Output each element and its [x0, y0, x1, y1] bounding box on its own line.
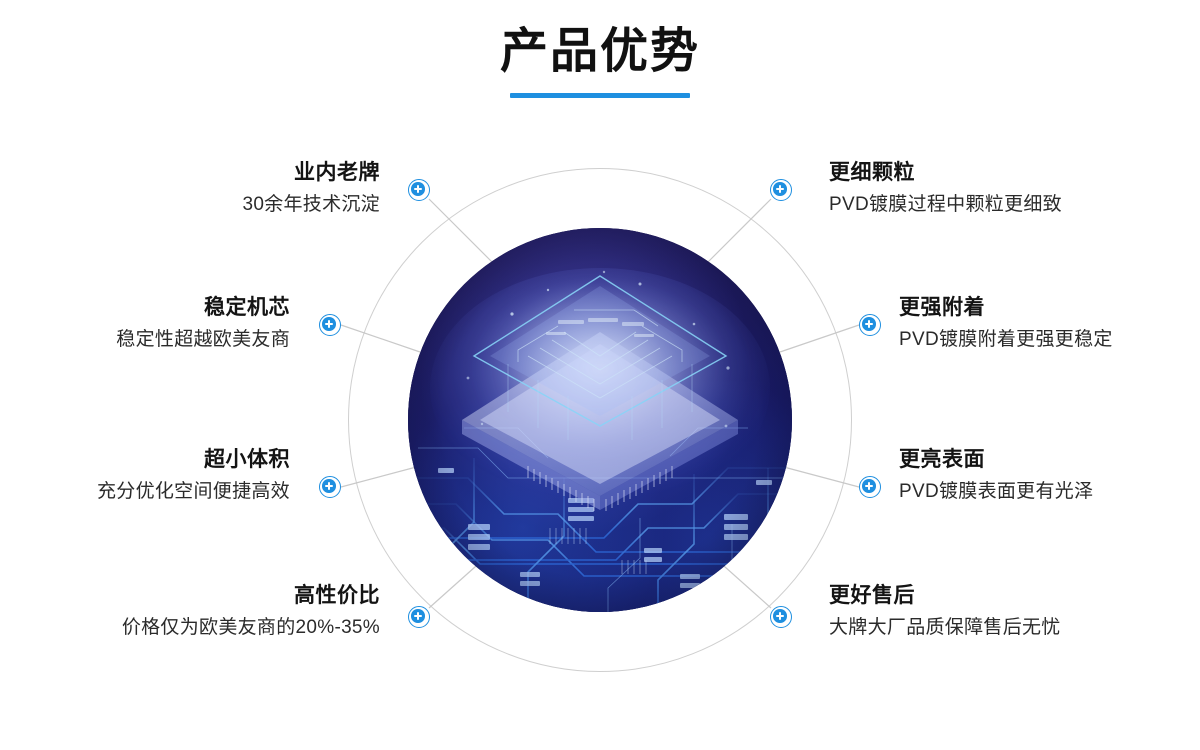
chip-image-vignette	[408, 228, 792, 612]
plus-circle-icon-2[interactable]	[319, 314, 341, 336]
plus-vertical-bar	[328, 320, 330, 328]
plus-circle-icon-4[interactable]	[408, 606, 430, 628]
feature-item-gao-xing-jia-bi[interactable]: 高性价比 价格仅为欧美友商的20%-35%	[122, 583, 380, 641]
feature-description: 充分优化空间便捷高效	[97, 480, 290, 505]
feature-description: PVD镀膜过程中颗粒更细致	[829, 193, 1062, 218]
feature-title: 更强附着	[899, 295, 1113, 321]
plus-vertical-bar	[417, 612, 419, 620]
plus-vertical-bar	[779, 612, 781, 620]
feature-description: 大牌大厂品质保障售后无忧	[829, 616, 1061, 641]
feature-description: PVD镀膜附着更强更稳定	[899, 328, 1113, 353]
feature-item-geng-liang-biao-mian[interactable]: 更亮表面 PVD镀膜表面更有光泽	[899, 447, 1093, 505]
feature-description: 稳定性超越欧美友商	[116, 328, 290, 353]
feature-item-chao-xiao-ti-ji[interactable]: 超小体积 充分优化空间便捷高效	[97, 447, 290, 505]
plus-circle-icon-5[interactable]	[770, 179, 792, 201]
feature-title: 更亮表面	[899, 447, 1093, 473]
plus-vertical-bar	[779, 185, 781, 193]
feature-item-geng-hao-shou-hou[interactable]: 更好售后 大牌大厂品质保障售后无忧	[829, 583, 1061, 641]
plus-circle-icon-3[interactable]	[319, 476, 341, 498]
feature-title: 高性价比	[122, 583, 380, 609]
feature-title: 更细颗粒	[829, 160, 1062, 186]
feature-description: PVD镀膜表面更有光泽	[899, 480, 1093, 505]
feature-title: 稳定机芯	[116, 295, 290, 321]
feature-description: 30余年技术沉淀	[242, 193, 380, 218]
plus-vertical-bar	[417, 185, 419, 193]
feature-item-ye-nei-lao-pai[interactable]: 业内老牌 30余年技术沉淀	[242, 160, 380, 218]
feature-title: 超小体积	[97, 447, 290, 473]
plus-vertical-bar	[868, 482, 870, 490]
plus-vertical-bar	[868, 320, 870, 328]
feature-item-wen-ding-ji-xin[interactable]: 稳定机芯 稳定性超越欧美友商	[116, 295, 290, 353]
feature-title: 业内老牌	[242, 160, 380, 186]
feature-item-geng-xi-ke-li[interactable]: 更细颗粒 PVD镀膜过程中颗粒更细致	[829, 160, 1062, 218]
plus-circle-icon-7[interactable]	[859, 476, 881, 498]
plus-circle-icon-6[interactable]	[859, 314, 881, 336]
plus-circle-icon-8[interactable]	[770, 606, 792, 628]
feature-title: 更好售后	[829, 583, 1061, 609]
feature-item-geng-qiang-fu-zhuo[interactable]: 更强附着 PVD镀膜附着更强更稳定	[899, 295, 1113, 353]
plus-vertical-bar	[328, 482, 330, 490]
plus-circle-icon-1[interactable]	[408, 179, 430, 201]
feature-description: 价格仅为欧美友商的20%-35%	[122, 616, 380, 641]
product-advantages-page: 产品优势	[0, 0, 1200, 750]
center-chip-image	[408, 228, 792, 612]
